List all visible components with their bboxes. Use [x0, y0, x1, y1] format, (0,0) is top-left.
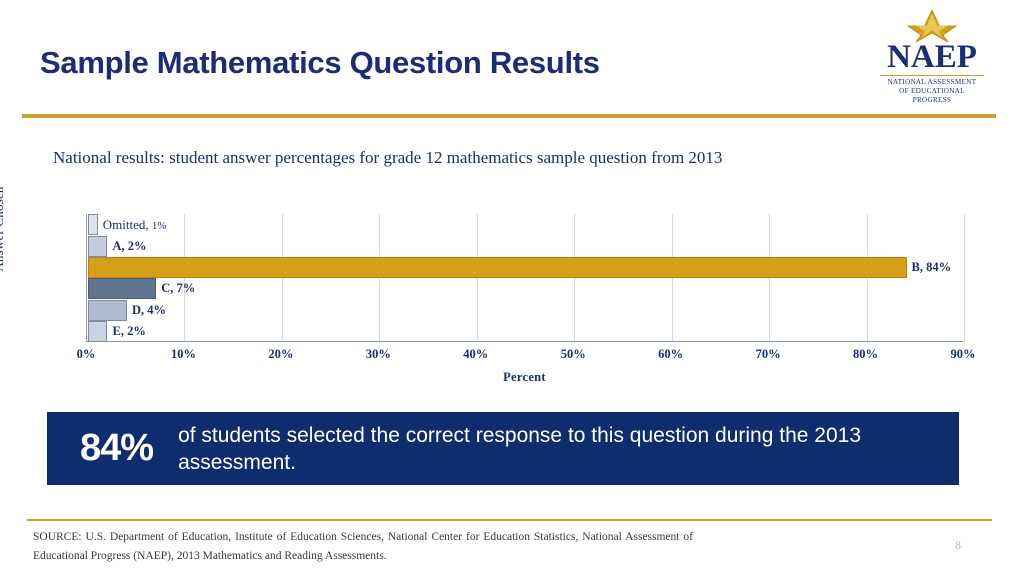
bar-row: D, 4% [88, 300, 166, 321]
x-tick-label: 70% [738, 347, 798, 362]
bar-label-e: E, 2% [112, 324, 145, 339]
bar-label-b: B, 84% [912, 260, 952, 275]
x-tick-label: 20% [251, 347, 311, 362]
chart-plot-area: Omitted, 1%A, 2%B, 84%C, 7%D, 4%E, 2% [86, 214, 963, 342]
x-tick-label: 80% [836, 347, 896, 362]
chart-subtitle: National results: student answer percent… [53, 146, 773, 170]
bar-row: A, 2% [88, 236, 147, 257]
logo-subtitle-line3: PROGRESS [877, 96, 987, 105]
naep-wordmark: NAEP [877, 40, 987, 74]
page-title: Sample Mathematics Question Results [40, 45, 600, 81]
x-axis-title: Percent [86, 370, 963, 385]
naep-logo: NAEP NATIONAL ASSESSMENT OF EDUCATIONAL … [877, 8, 987, 108]
header-divider [22, 114, 996, 118]
logo-subtitle-line1: NATIONAL ASSESSMENT [877, 78, 987, 87]
bar-c [88, 278, 156, 299]
callout-text: of students selected the correct respons… [178, 422, 948, 476]
y-axis-title: Answer Chosen [0, 161, 9, 297]
x-tick-label: 40% [446, 347, 506, 362]
logo-subtitle-line2: OF EDUCATIONAL [877, 87, 987, 96]
bar-row: Omitted, 1% [88, 214, 167, 235]
bar-row: B, 84% [88, 257, 951, 278]
x-tick-label: 90% [933, 347, 993, 362]
callout-banner: 84% of students selected the correct res… [47, 412, 959, 485]
bar-label-d: D, 4% [132, 303, 166, 318]
bar-chart: Answer Chosen Omitted, 1%A, 2%B, 84%C, 7… [58, 214, 963, 389]
bar-d [88, 300, 127, 321]
bar-e [88, 321, 107, 342]
star-icon [877, 8, 987, 42]
footer-divider [27, 519, 992, 521]
bar-label-omitted: Omitted, 1% [103, 217, 167, 233]
logo-divider [880, 75, 984, 76]
x-tick-label: 50% [543, 347, 603, 362]
bar-label-c: C, 7% [161, 281, 195, 296]
bar-label-a: A, 2% [112, 239, 146, 254]
x-tick-label: 10% [153, 347, 213, 362]
x-tick-label: 30% [348, 347, 408, 362]
x-tick-label: 60% [641, 347, 701, 362]
x-tick-label: 0% [56, 347, 116, 362]
source-note: SOURCE: U.S. Department of Education, In… [33, 528, 693, 566]
bar-omitted [88, 214, 98, 235]
page-number: 8 [955, 538, 961, 553]
bar-row: E, 2% [88, 321, 146, 342]
gridline [964, 214, 965, 341]
bar-row: C, 7% [88, 278, 195, 299]
bar-a [88, 236, 107, 257]
callout-stat: 84% [80, 427, 153, 470]
bar-b [88, 257, 907, 278]
